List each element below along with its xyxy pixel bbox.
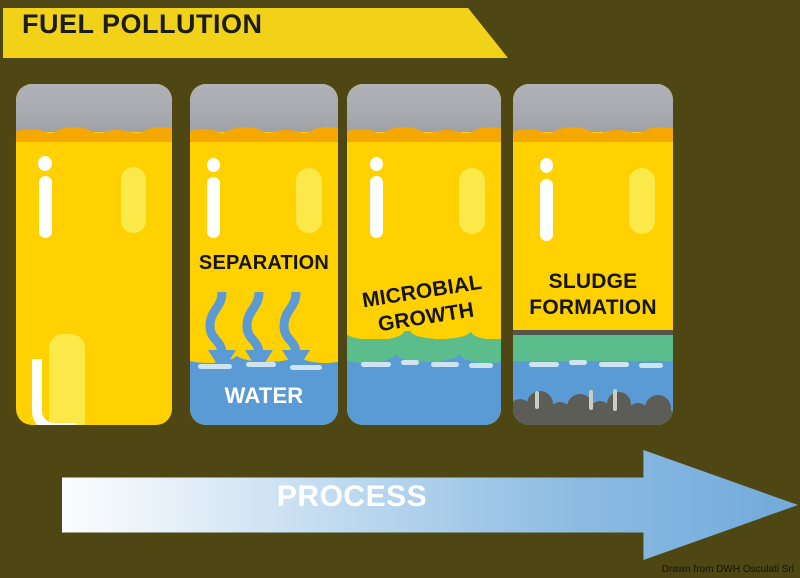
sludge-layer — [513, 381, 673, 425]
foam-streak — [569, 360, 587, 365]
foam-streak — [246, 362, 276, 367]
fuel-surface-wave — [513, 120, 673, 142]
tank-3-microbial-growth: MICROBIAL GROWTH — [347, 84, 501, 425]
fuel-surface-wave — [190, 120, 338, 142]
tank-1-clean-fuel — [16, 84, 172, 425]
foam-streak — [290, 365, 322, 370]
foam-streak — [529, 362, 559, 367]
fuel-surface-wave — [16, 120, 172, 142]
tank-4-sludge-formation: SLUDGE FORMATION — [513, 84, 673, 425]
foam-streak — [401, 360, 419, 365]
credit-text: Drawn from DWH Osculati Srl — [662, 564, 794, 575]
foam-streak — [198, 364, 232, 369]
foam-streak — [361, 362, 391, 367]
highlight-bar-icon — [39, 176, 52, 238]
foam-streak — [599, 362, 629, 367]
tank-4-caption-formation: FORMATION — [513, 296, 673, 320]
page-title: FUEL POLLUTION — [22, 9, 263, 40]
tank-4-caption-sludge: SLUDGE — [513, 270, 673, 294]
highlight-dot-icon — [207, 158, 220, 172]
tank-3-caption-group: MICROBIAL GROWTH — [347, 268, 501, 339]
foam-streak — [639, 363, 663, 368]
microbial-layer — [513, 335, 673, 363]
water-layer — [347, 363, 501, 425]
gloss-panel — [121, 167, 146, 233]
tank-2-caption-water: WATER — [190, 383, 338, 409]
foam-streak — [469, 363, 493, 368]
tank-2-caption-separation: SEPARATION — [190, 252, 338, 275]
highlight-dot-icon — [38, 156, 52, 171]
highlight-hook-icon — [32, 359, 76, 425]
gloss-panel — [459, 168, 485, 234]
highlight-bar-icon — [540, 179, 553, 241]
microbial-surface-wave — [347, 331, 501, 341]
fuel-surface-wave — [347, 120, 501, 142]
highlight-dot-icon — [370, 157, 383, 171]
process-label: PROCESS — [62, 480, 642, 514]
highlight-dot-icon — [540, 158, 553, 173]
highlight-bar-icon — [370, 176, 383, 238]
gloss-panel — [296, 168, 322, 233]
foam-streak — [431, 362, 459, 367]
tank-2-separation: SEPARATION WATER — [190, 84, 338, 425]
highlight-bar-icon — [207, 177, 220, 238]
gloss-panel — [629, 168, 655, 234]
infographic-canvas: FUEL POLLUTION SEPARATION — [0, 0, 800, 578]
